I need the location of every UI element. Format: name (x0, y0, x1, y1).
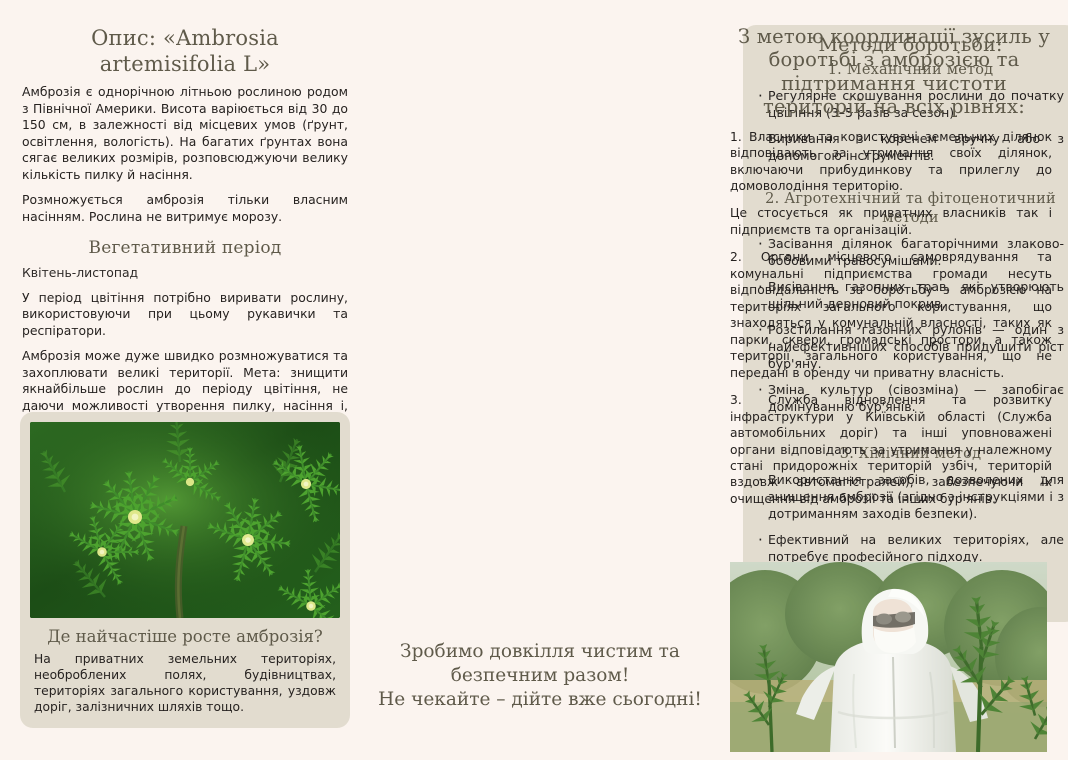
right-heading-wrap: З метою координації зусиль у боротьбі з … (716, 0, 1068, 507)
brochure-page: Опис: «Ambrosia artemisifolia L» Амброзі… (0, 0, 1068, 760)
left-heading-wrap: Опис: «Ambrosia artemisifolia L» (0, 0, 368, 77)
slogan-line-3: Не чекайте – дійте вже сьогодні! (360, 688, 720, 712)
description-paragraph-1: Амброзія є однорічною літньою рослиною р… (22, 84, 348, 183)
ambrosia-plant-photo (30, 422, 340, 618)
description-paragraph-2: Розмножується амброзія тільки власним на… (22, 192, 348, 225)
responsibility-paragraph-2: Це стосується як приватних власників так… (730, 205, 1052, 238)
habitat-caption-title: Де найчастіше росте амброзія? (30, 627, 340, 647)
habitat-card: Де найчастіше росте амброзія? На приватн… (20, 412, 350, 728)
description-title: Опис: «Ambrosia artemisifolia L» (22, 26, 348, 77)
vegetative-period-months: Квітень-листопад (22, 265, 348, 281)
responsibility-paragraph-3: 2. Органи місцевого самоврядування та ко… (730, 249, 1052, 381)
responsibility-paragraph-4: 3. Служба відновлення та розвитку інфрас… (730, 392, 1052, 507)
vegetative-period-title: Вегетативний період (22, 238, 348, 259)
habitat-caption-body: На приватних земельних територіях, необр… (30, 651, 340, 716)
protective-suit-worker-photo (730, 562, 1047, 752)
slogan-line-2: безпечним разом! (360, 664, 720, 688)
responsibilities-list: 1. Власники та користувачі земельних діл… (730, 129, 1058, 508)
responsibility-paragraph-1: 1. Власники та користувачі земельних діл… (730, 129, 1052, 195)
left-text-block: Амброзія є однорічною літньою рослиною р… (0, 77, 368, 430)
left-column: Опис: «Ambrosia artemisifolia L» Амброзі… (0, 0, 368, 760)
vegetative-paragraph-1: У період цвітіння потрібно виривати росл… (22, 290, 348, 340)
coordination-title: З метою координації зусиль у боротьбі з … (730, 25, 1058, 119)
call-to-action-slogan: Зробимо довкілля чистим та безпечним раз… (360, 640, 720, 712)
slogan-line-1: Зробимо довкілля чистим та (360, 640, 720, 664)
